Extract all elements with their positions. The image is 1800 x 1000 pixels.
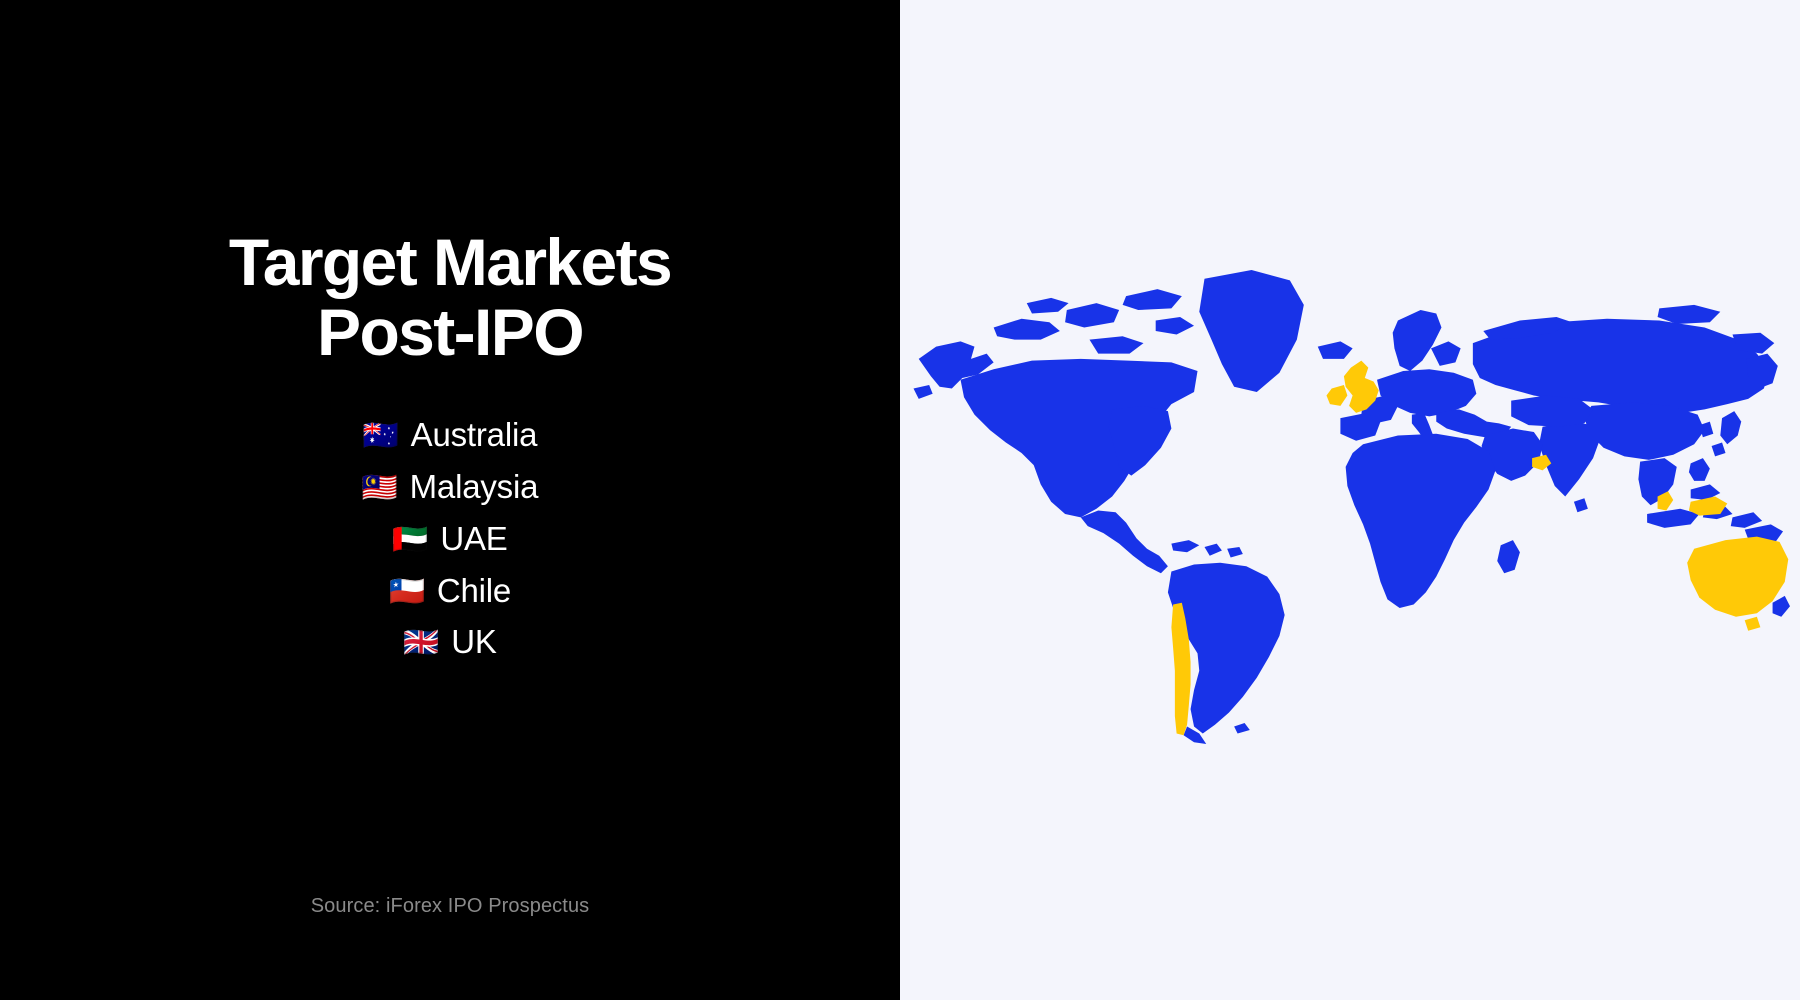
list-item: 🇦🇪 UAE xyxy=(392,518,507,561)
list-item: 🇲🇾 Malaysia xyxy=(362,466,539,509)
left-content-panel: Target Markets Post-IPO 🇦🇺 Australia 🇲🇾 … xyxy=(0,0,900,1000)
market-label-uae: UAE xyxy=(440,518,507,561)
market-label-chile: Chile xyxy=(437,570,511,613)
market-label-uk: UK xyxy=(451,621,496,664)
slide-root: Target Markets Post-IPO 🇦🇺 Australia 🇲🇾 … xyxy=(0,0,1800,1000)
source-citation: Source: iForex IPO Prospectus xyxy=(0,895,900,918)
market-label-malaysia: Malaysia xyxy=(410,466,539,509)
title-line-2: Post-IPO xyxy=(70,298,830,368)
flag-uae-icon: 🇦🇪 xyxy=(392,526,428,555)
list-item: 🇨🇱 Chile xyxy=(389,570,511,613)
flag-australia-icon: 🇦🇺 xyxy=(363,422,399,451)
world-map xyxy=(910,180,1790,820)
map-panel xyxy=(900,0,1800,1000)
market-label-australia: Australia xyxy=(411,414,538,457)
list-item: 🇦🇺 Australia xyxy=(363,414,538,457)
flag-uk-icon: 🇬🇧 xyxy=(403,629,439,658)
world-map-svg xyxy=(910,180,1790,820)
flag-chile-icon: 🇨🇱 xyxy=(389,578,425,607)
list-item: 🇬🇧 UK xyxy=(403,621,496,664)
flag-malaysia-icon: 🇲🇾 xyxy=(362,474,398,503)
target-markets-list: 🇦🇺 Australia 🇲🇾 Malaysia 🇦🇪 UAE 🇨🇱 Chile… xyxy=(0,414,900,664)
page-title: Target Markets Post-IPO xyxy=(0,228,900,368)
title-line-1: Target Markets xyxy=(70,228,830,298)
country-uk-ireland xyxy=(1326,385,1347,406)
country-australia-tasmania xyxy=(1745,617,1761,631)
